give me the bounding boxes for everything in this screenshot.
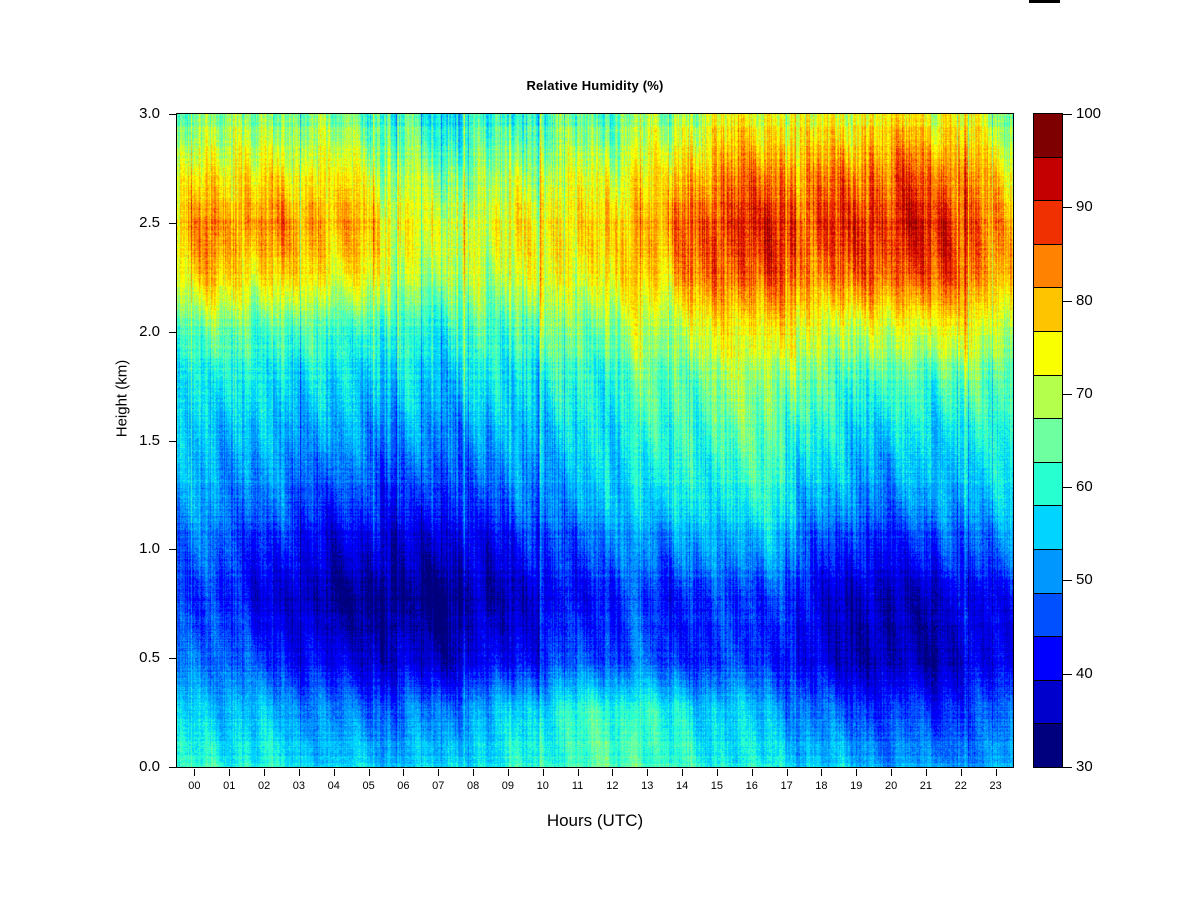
x-tick-label: 00 — [179, 780, 209, 792]
x-tick-label: 01 — [214, 780, 244, 792]
figure-canvas: Relative Humidity (%) 0.00.51.01.52.02.5… — [0, 0, 1200, 900]
x-tick-label: 04 — [319, 780, 349, 792]
x-tick-mark — [612, 769, 613, 776]
y-tick-label: 3.0 — [114, 105, 160, 122]
y-tick-mark — [169, 114, 176, 115]
x-tick-mark — [891, 769, 892, 776]
colorbar-tick-mark — [1063, 674, 1072, 675]
colorbar-tick-label: 90 — [1076, 198, 1093, 215]
colorbar-tick-label: 40 — [1076, 665, 1093, 682]
colorbar-band — [1034, 723, 1062, 767]
x-tick-mark — [787, 769, 788, 776]
x-tick-label: 19 — [841, 780, 871, 792]
colorbar-band — [1034, 114, 1062, 157]
x-tick-label: 03 — [284, 780, 314, 792]
x-tick-label: 17 — [772, 780, 802, 792]
x-axis-label: Hours (UTC) — [176, 811, 1014, 831]
x-tick-label: 02 — [249, 780, 279, 792]
x-tick-mark — [647, 769, 648, 776]
x-tick-label: 23 — [981, 780, 1011, 792]
x-tick-label: 08 — [458, 780, 488, 792]
x-tick-label: 05 — [354, 780, 384, 792]
x-tick-label: 07 — [423, 780, 453, 792]
x-tick-label: 15 — [702, 780, 732, 792]
x-tick-label: 09 — [493, 780, 523, 792]
colorbar-tick-labels: 30405060708090100 — [1063, 113, 1133, 768]
x-tick-label: 13 — [632, 780, 662, 792]
colorbar-band — [1034, 157, 1062, 201]
x-tick-label: 12 — [597, 780, 627, 792]
page-title: Relative Humidity (%) — [176, 78, 1014, 93]
x-tick-label: 11 — [563, 780, 593, 792]
colorbar-band — [1034, 549, 1062, 593]
x-tick-mark — [752, 769, 753, 776]
colorbar-band — [1034, 505, 1062, 549]
top-right-artifact-bar — [1029, 0, 1060, 3]
x-axis-ticks: 0001020304050607080910111213141516171819… — [176, 769, 1014, 803]
y-tick-label: 0.5 — [114, 649, 160, 666]
colorbar-tick-mark — [1063, 207, 1072, 208]
x-tick-mark — [717, 769, 718, 776]
x-tick-mark — [996, 769, 997, 776]
y-tick-label: 1.0 — [114, 540, 160, 557]
colorbar-tick-label: 80 — [1076, 292, 1093, 309]
colorbar-tick-mark — [1063, 301, 1072, 302]
y-tick-mark — [169, 332, 176, 333]
colorbar-tick-label: 100 — [1076, 105, 1101, 122]
x-tick-mark — [856, 769, 857, 776]
colorbar[interactable] — [1033, 113, 1063, 768]
colorbar-band — [1034, 462, 1062, 506]
x-tick-mark — [682, 769, 683, 776]
colorbar-band — [1034, 244, 1062, 288]
x-tick-mark — [369, 769, 370, 776]
y-tick-mark — [169, 549, 176, 550]
colorbar-tick-label: 30 — [1076, 758, 1093, 775]
colorbar-band — [1034, 636, 1062, 680]
colorbar-band — [1034, 418, 1062, 462]
x-tick-mark — [961, 769, 962, 776]
colorbar-tick-mark — [1063, 394, 1072, 395]
x-tick-label: 10 — [528, 780, 558, 792]
colorbar-band — [1034, 200, 1062, 244]
x-tick-mark — [229, 769, 230, 776]
colorbar-tick-mark — [1063, 114, 1072, 115]
colorbar-band — [1034, 680, 1062, 724]
colorbar-band — [1034, 331, 1062, 375]
x-tick-mark — [264, 769, 265, 776]
y-tick-mark — [169, 658, 176, 659]
x-tick-label: 20 — [876, 780, 906, 792]
x-tick-label: 21 — [911, 780, 941, 792]
colorbar-tick-label: 70 — [1076, 385, 1093, 402]
x-tick-mark — [543, 769, 544, 776]
x-tick-label: 06 — [388, 780, 418, 792]
y-axis-label: Height (km) — [114, 329, 131, 469]
x-tick-mark — [403, 769, 404, 776]
y-tick-mark — [169, 441, 176, 442]
colorbar-tick-label: 50 — [1076, 571, 1093, 588]
x-tick-label: 16 — [737, 780, 767, 792]
colorbar-band — [1034, 287, 1062, 331]
x-tick-mark — [299, 769, 300, 776]
heatmap-plot-area[interactable] — [176, 113, 1014, 768]
x-tick-label: 14 — [667, 780, 697, 792]
x-tick-mark — [473, 769, 474, 776]
y-tick-mark — [169, 223, 176, 224]
x-tick-mark — [821, 769, 822, 776]
colorbar-tick-label: 60 — [1076, 478, 1093, 495]
x-tick-mark — [508, 769, 509, 776]
x-tick-mark — [334, 769, 335, 776]
y-tick-mark — [169, 767, 176, 768]
y-tick-label: 0.0 — [114, 758, 160, 775]
colorbar-tick-mark — [1063, 580, 1072, 581]
x-tick-mark — [438, 769, 439, 776]
x-tick-label: 22 — [946, 780, 976, 792]
x-tick-label: 18 — [806, 780, 836, 792]
colorbar-tick-mark — [1063, 487, 1072, 488]
x-tick-mark — [578, 769, 579, 776]
colorbar-band — [1034, 375, 1062, 419]
y-tick-label: 2.5 — [114, 214, 160, 231]
heatmap-image — [177, 114, 1013, 767]
x-tick-mark — [194, 769, 195, 776]
x-tick-mark — [926, 769, 927, 776]
colorbar-band — [1034, 593, 1062, 637]
colorbar-tick-mark — [1063, 767, 1072, 768]
